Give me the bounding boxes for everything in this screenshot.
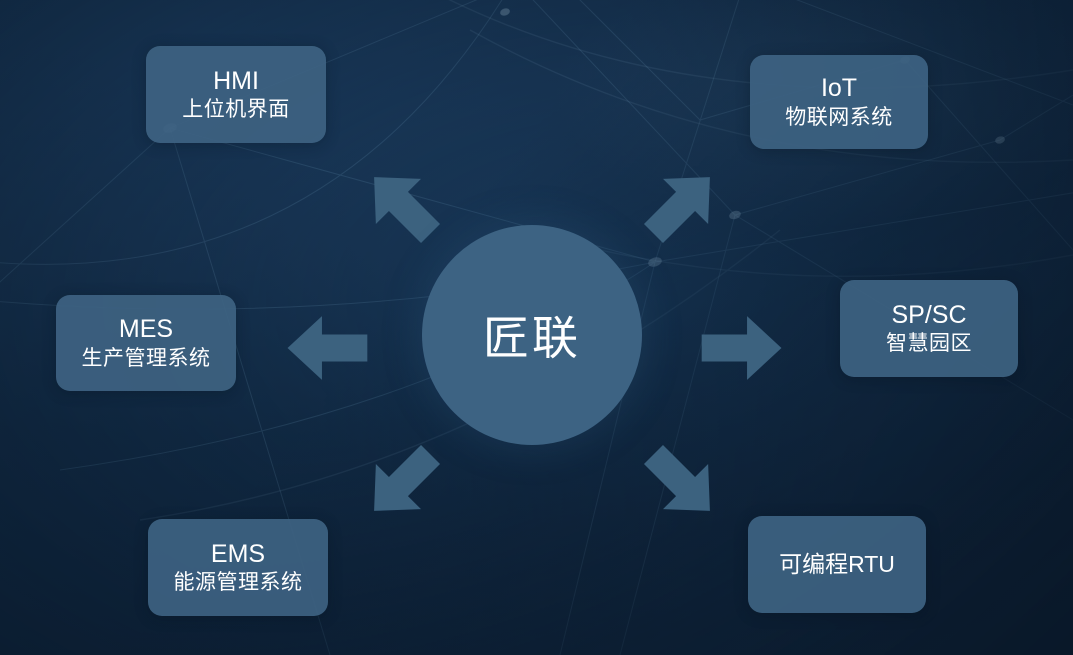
node-title-hmi: HMI [213,66,259,97]
node-card-mes[interactable]: MES生产管理系统 [56,295,236,391]
node-subtitle-mes: 生产管理系统 [82,345,211,372]
node-title-mes: MES [119,314,173,345]
central-hub-node: 匠联 [422,225,642,445]
diagram-canvas: 匠联 HMI上位机界面IoT物联网系统MES生产管理系统SP/SC智慧园区EMS… [0,0,1073,655]
node-title-spsc: SP/SC [891,300,966,331]
node-card-hmi[interactable]: HMI上位机界面 [146,46,326,143]
node-title-rtu: 可编程RTU [779,550,895,578]
node-card-spsc[interactable]: SP/SC智慧园区 [840,280,1018,377]
node-card-ems[interactable]: EMS能源管理系统 [148,519,328,616]
node-card-rtu[interactable]: 可编程RTU [748,516,926,613]
node-title-ems: EMS [211,539,265,570]
central-hub-label: 匠联 [483,302,581,368]
node-subtitle-spsc: 智慧园区 [886,330,972,357]
node-subtitle-ems: 能源管理系统 [174,569,303,596]
node-title-iot: IoT [821,73,857,104]
node-card-iot[interactable]: IoT物联网系统 [750,55,928,149]
node-subtitle-iot: 物联网系统 [785,104,893,131]
node-subtitle-hmi: 上位机界面 [182,96,290,123]
arrow-left-icon [285,306,369,390]
arrow-right-icon [700,306,784,390]
